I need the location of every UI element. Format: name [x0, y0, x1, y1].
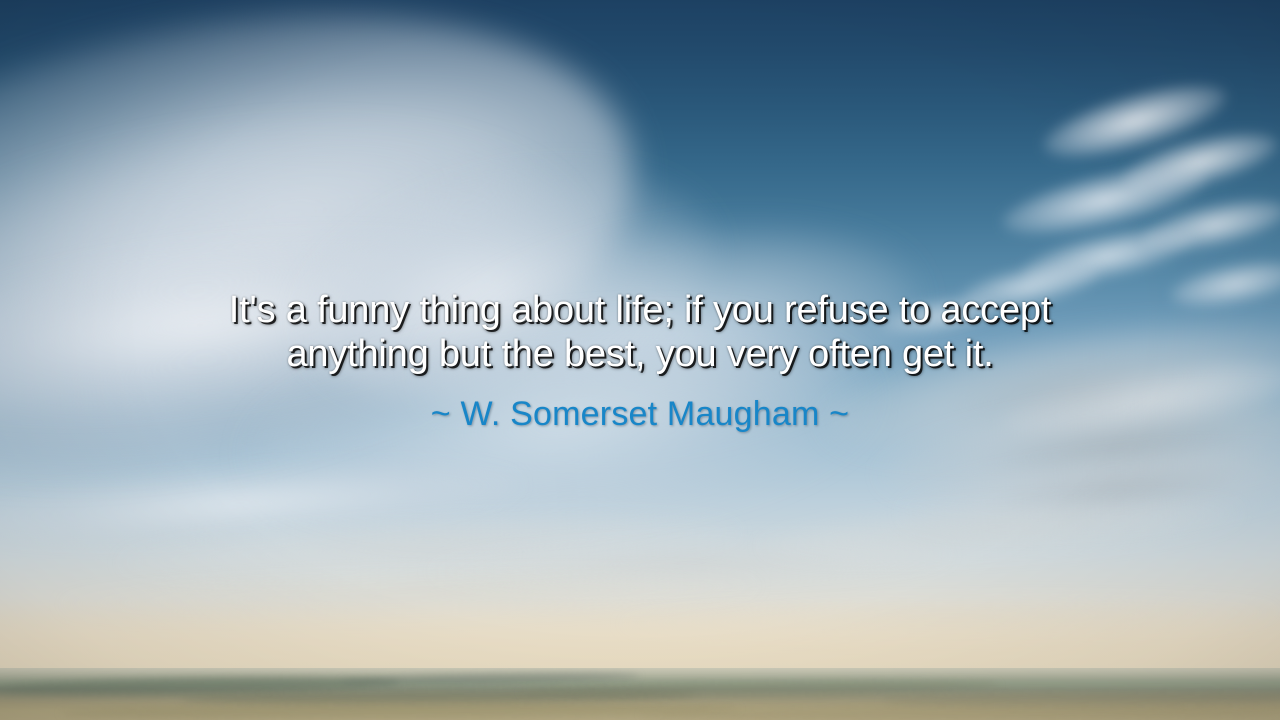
low-cloud-streak-6 — [620, 594, 1280, 642]
terrain-streak-5 — [60, 702, 740, 720]
wallpaper-scene: It's a funny thing about life; if you re… — [0, 0, 1280, 720]
cloud-layer — [0, 0, 1280, 720]
terrain-streak-6 — [640, 704, 1280, 720]
terrain-band — [0, 668, 1280, 720]
altocumulus-cloud-7 — [1168, 253, 1280, 315]
